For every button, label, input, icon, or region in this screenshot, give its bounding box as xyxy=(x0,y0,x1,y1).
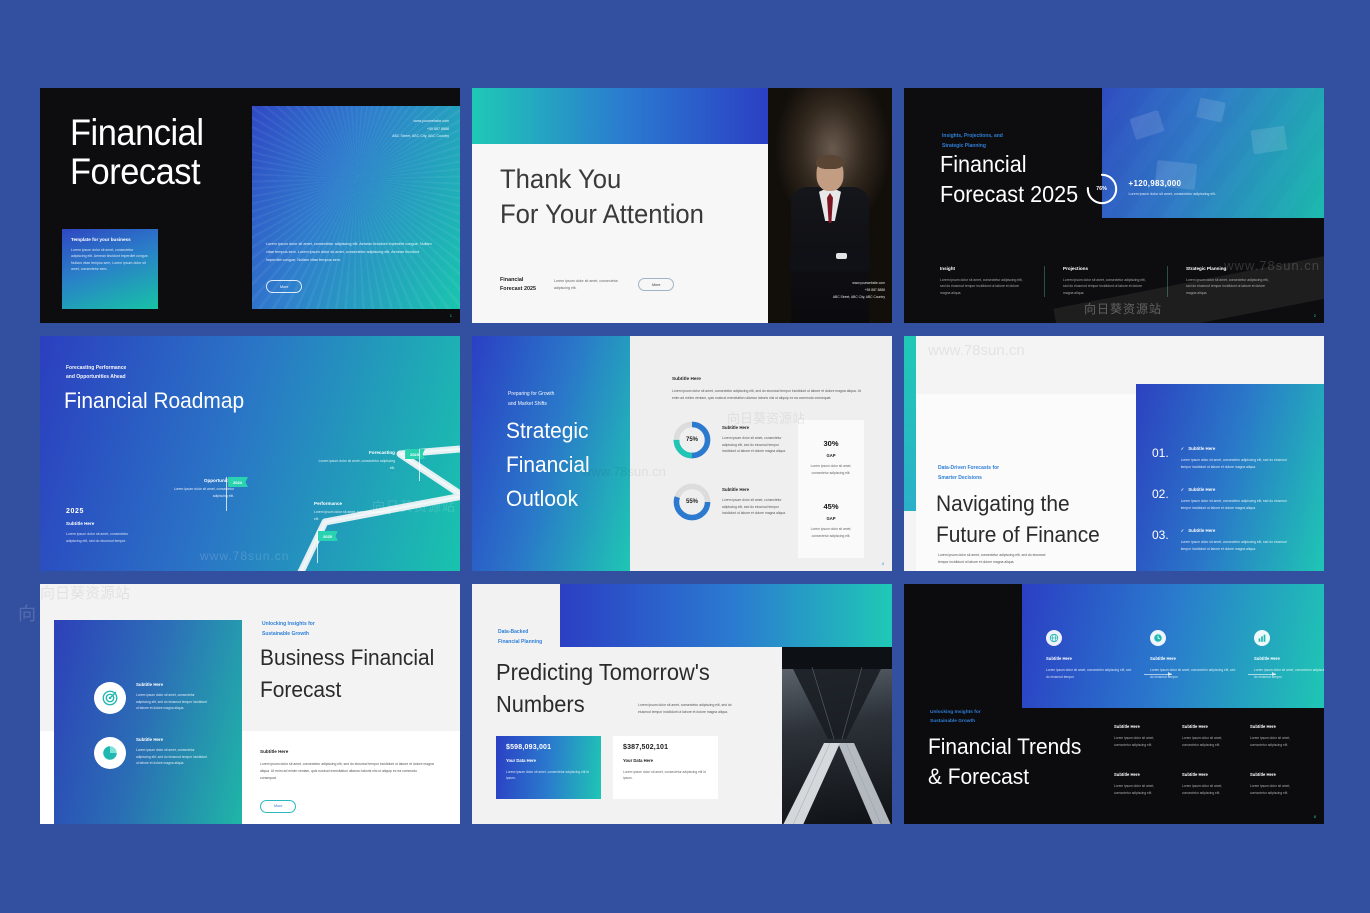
slide8-kicker-line2: Financial Planning xyxy=(498,638,542,648)
slide8-data-cards: $598,093,001 Your Data Here Lorem ipsum … xyxy=(496,736,718,799)
slide6-kicker-line2: Smarter Decisions xyxy=(938,474,999,484)
slide1-contact-block: www.yourwebsite.com +55 887 8888 ABC Str… xyxy=(392,118,449,141)
slide2-title: Thank You For Your Attention xyxy=(500,162,704,231)
slide1-page-number: 1 xyxy=(450,313,452,318)
marker-label: Opportunities xyxy=(162,478,234,483)
card-body: Lorem ipsum dolor sit amet, consectetur … xyxy=(506,769,591,782)
slide-thumbnail-strategic-outlook[interactable]: Preparing for Growth and Market Shifts S… xyxy=(472,336,892,571)
cell-heading: Subtitle Here xyxy=(1182,772,1234,777)
slide5-kicker-line2: and Market Shifts xyxy=(508,400,554,410)
marker-flag-pole xyxy=(317,531,318,563)
step-body: Lorem ipsum dolor sit amet, consectetur … xyxy=(1046,667,1134,680)
slide1-website: www.yourwebsite.com xyxy=(392,118,449,126)
slide5-kicker: Preparing for Growth and Market Shifts xyxy=(508,390,554,409)
stat-percent: 45% xyxy=(804,502,858,511)
slide4-kicker-line2: and Opportunities Ahead xyxy=(66,373,126,382)
slide4-kicker-line1: Forecasting Performance xyxy=(66,364,126,373)
slide5-donut-text-2: Subtitle Here Lorem ipsum dolor sit amet… xyxy=(722,487,788,517)
slide3-column-insight: Insight Lorem ipsum dolor sit amet, cons… xyxy=(940,266,1044,297)
donut-label: 75% xyxy=(672,420,712,460)
slide-thumbnail-business-forecast[interactable]: Subtitle Here Lorem ipsum dolor sit amet… xyxy=(40,584,460,824)
slides-grid: Financial Forecast Template for your bus… xyxy=(40,88,1328,824)
slide9-cell-1: Subtitle Here Lorem ipsum dolor sit amet… xyxy=(1114,724,1166,748)
slide5-donut-text-1: Subtitle Here Lorem ipsum dolor sit amet… xyxy=(722,425,788,455)
slide3-stat-text: +120,983,000 Lorem ipsum dolor sit amet,… xyxy=(1129,179,1217,198)
slide8-card-secondary: $387,502,101 Your Data Here Lorem ipsum … xyxy=(613,736,718,799)
slide-thumbnail-forecast-2025[interactable]: Insights, Projections, and Strategic Pla… xyxy=(904,88,1324,323)
item-number: 02. xyxy=(1152,487,1169,501)
bar-chart-icon-svg xyxy=(1257,633,1267,643)
item-text: ✓Subtitle Here Lorem ipsum dolor sit ame… xyxy=(1181,446,1289,470)
bar-chart-icon xyxy=(1254,630,1270,646)
marker-flag-pole xyxy=(226,477,227,511)
column-body: Lorem ipsum dolor sit amet, consectetur … xyxy=(940,277,1026,297)
cell-body: Lorem ipsum dolor sit amet, consectetur … xyxy=(1250,735,1302,748)
feature-heading: Subtitle Here xyxy=(136,682,208,687)
slide9-cell-3: Subtitle Here Lorem ipsum dolor sit amet… xyxy=(1250,724,1302,748)
slide-thumbnail-financial-trends[interactable]: Subtitle Here Lorem ipsum dolor sit amet… xyxy=(904,584,1324,824)
slide5-kicker-line1: Preparing for Growth xyxy=(508,390,554,400)
marker-year-flag: 2025 xyxy=(318,531,338,541)
slide8-title-line1: Predicting Tomorrow's xyxy=(496,656,710,688)
marker-body: Lorem ipsum dolor sit amet, consectetur … xyxy=(314,509,392,522)
slide7-title: Business Financial Forecast xyxy=(260,642,434,706)
item-heading: Subtitle Here xyxy=(1188,528,1215,533)
slide4-body: Lorem ipsum dolor sit amet, consectetur … xyxy=(66,531,134,545)
marker-label: Forecasting xyxy=(315,450,395,455)
item-heading-row: ✓Subtitle Here xyxy=(1181,528,1289,533)
target-icon xyxy=(94,682,126,714)
slide3-stat-value: +120,983,000 xyxy=(1129,179,1217,188)
clock-icon xyxy=(1150,630,1166,646)
cell-body: Lorem ipsum dolor sit amet, consectetur … xyxy=(1114,735,1166,748)
cell-heading: Subtitle Here xyxy=(1182,724,1234,729)
cell-heading: Subtitle Here xyxy=(1250,724,1302,729)
slide9-cell-2: Subtitle Here Lorem ipsum dolor sit amet… xyxy=(1182,724,1234,748)
feature-body: Lorem ipsum dolor sit amet, consectetur … xyxy=(136,747,208,767)
globe-icon xyxy=(1046,630,1062,646)
slide3-title-line2: Forecast 2025 xyxy=(940,180,1078,210)
card-label: Your Data Here xyxy=(623,758,708,763)
stat-body: Lorem ipsum dolor sit amet, consectetur … xyxy=(804,526,858,539)
slide9-step-1: Subtitle Here Lorem ipsum dolor sit amet… xyxy=(1046,630,1134,680)
item-text: ✓Subtitle Here Lorem ipsum dolor sit ame… xyxy=(1181,528,1289,552)
slide3-page-number: 2 xyxy=(1314,313,1316,318)
stat-body: Lorem ipsum dolor sit amet, consectetur … xyxy=(804,463,858,476)
slide6-title: Navigating the Future of Finance xyxy=(936,488,1100,550)
roadmap-marker-performance: Performance Lorem ipsum dolor sit amet, … xyxy=(314,501,392,522)
slide9-steps-panel: Subtitle Here Lorem ipsum dolor sit amet… xyxy=(1022,584,1324,708)
cell-body: Lorem ipsum dolor sit amet, consectetur … xyxy=(1182,735,1234,748)
slide9-cell-6: Subtitle Here Lorem ipsum dolor sit amet… xyxy=(1250,772,1302,796)
slide7-kicker: Unlocking Insights for Sustainable Growt… xyxy=(262,620,315,639)
donut-chart-55: 55% xyxy=(672,482,712,522)
column-heading: Insight xyxy=(940,266,1026,271)
slide9-kicker-line2: Sustainable Growth xyxy=(930,717,981,726)
slide5-top-block: Subtitle Here Lorem ipsum dolor sit amet… xyxy=(672,376,864,402)
check-icon: ✓ xyxy=(1181,446,1185,451)
item-body: Lorem ipsum dolor sit amet, consectetur … xyxy=(1181,498,1289,511)
slide5-title-line2: Financial xyxy=(506,448,590,482)
slide7-sub-body: Lorem ipsum dolor sit amet, consectetur … xyxy=(260,761,434,782)
slide7-feature-2: Subtitle Here Lorem ipsum dolor sit amet… xyxy=(94,737,208,769)
cell-heading: Subtitle Here xyxy=(1114,772,1166,777)
item-body: Lorem ipsum dolor sit amet, consectetur … xyxy=(1181,539,1289,552)
slide5-top-body: Lorem ipsum dolor sit amet, consectetur … xyxy=(672,388,864,402)
slide2-title-line2: For Your Attention xyxy=(500,197,704,232)
slide1-title-line1: Financial xyxy=(70,114,204,153)
cell-heading: Subtitle Here xyxy=(1250,772,1302,777)
item-body: Lorem ipsum dolor sit amet, consectetur … xyxy=(1181,457,1289,470)
slide1-address: ABC Street, ABC City, ABC Country xyxy=(392,133,449,141)
deco-shape xyxy=(1129,110,1164,140)
cell-body: Lorem ipsum dolor sit amet, consectetur … xyxy=(1114,783,1166,796)
slide5-stat-card-1: 30% GAP Lorem ipsum dolor sit amet, cons… xyxy=(798,426,864,489)
slide5-title: Strategic Financial Outlook xyxy=(506,414,590,516)
slide2-brand-line1: Financial xyxy=(500,277,523,283)
slide1-card-body: Lorem ipsum dolor sit amet, consectetur … xyxy=(71,247,149,273)
slide6-title-line2: Future of Finance xyxy=(936,519,1100,550)
item-number: 03. xyxy=(1152,528,1169,542)
slide5-page-number: 4 xyxy=(882,561,884,566)
donut-body: Lorem ipsum dolor sit amet, consectetur … xyxy=(722,497,788,517)
pie-chart-icon-svg xyxy=(101,744,119,762)
slide4-kicker: Forecasting Performance and Opportunitie… xyxy=(66,364,126,382)
slide5-title-line3: Outlook xyxy=(506,482,590,516)
item-heading: Subtitle Here xyxy=(1188,487,1215,492)
marker-body: Lorem ipsum dolor sit amet, consectetur … xyxy=(162,486,234,499)
donut-chart-76: 76% xyxy=(1085,172,1119,206)
marker-flag-pole xyxy=(419,449,420,481)
slide2-title-line1: Thank You xyxy=(500,162,704,197)
card-body: Lorem ipsum dolor sit amet, consectetur … xyxy=(623,769,708,782)
slide4-year: 2025 xyxy=(66,508,134,515)
marker-year-flag: 2023 xyxy=(405,449,425,459)
slide2-phone: +55 887 8888 xyxy=(833,287,885,294)
slide9-step-2: Subtitle Here Lorem ipsum dolor sit amet… xyxy=(1150,630,1238,680)
slide7-sub-block: Subtitle Here Lorem ipsum dolor sit amet… xyxy=(260,749,434,813)
column-heading: Projections xyxy=(1063,266,1149,271)
slide3-kicker-line1: Insights, Projections, and xyxy=(942,132,1003,142)
stat-percent: 30% xyxy=(804,439,858,448)
feature-text: Subtitle Here Lorem ipsum dolor sit amet… xyxy=(136,737,208,767)
step-heading: Subtitle Here xyxy=(1254,656,1324,661)
slide6-body: Lorem ipsum dolor sit amet, consectetur … xyxy=(938,552,1046,567)
roadmap-marker-forecasting: Forecasting Lorem ipsum dolor sit amet, … xyxy=(315,450,395,471)
slide9-cell-4: Subtitle Here Lorem ipsum dolor sit amet… xyxy=(1114,772,1166,796)
item-heading: Subtitle Here xyxy=(1188,446,1215,451)
slide2-portrait-photo: www.yourwebsite.com +55 887 8888 ABC Str… xyxy=(768,88,892,323)
slide3-title-line1: Financial xyxy=(940,150,1078,180)
donut-heading: Subtitle Here xyxy=(722,425,788,430)
slide8-gradient-bar xyxy=(560,584,892,647)
slide7-kicker-line2: Sustainable Growth xyxy=(262,630,315,640)
slide9-cell-5: Subtitle Here Lorem ipsum dolor sit amet… xyxy=(1182,772,1234,796)
slide4-title: Financial Roadmap xyxy=(64,388,244,414)
donut-label: 55% xyxy=(672,482,712,522)
slide-thumbnail-navigating-future[interactable]: Data-Driven Forecasts for Smarter Decisi… xyxy=(904,336,1324,571)
cell-body: Lorem ipsum dolor sit amet, consectetur … xyxy=(1250,783,1302,796)
slide5-stat-cards: 30% GAP Lorem ipsum dolor sit amet, cons… xyxy=(798,420,864,558)
slide8-kicker: Data-Backed Financial Planning xyxy=(498,628,542,647)
building-graphic xyxy=(782,647,892,824)
slide6-kicker-line1: Data-Driven Forecasts for xyxy=(938,464,999,474)
slide8-card-primary: $598,093,001 Your Data Here Lorem ipsum … xyxy=(496,736,601,799)
step-body: Lorem ipsum dolor sit amet, consectetur … xyxy=(1150,667,1238,680)
step-body: Lorem ipsum dolor sit amet, consectetur … xyxy=(1254,667,1324,680)
slide1-body-text: Lorem ipsum dolor sit amet, consectetur … xyxy=(266,241,434,265)
slide-thumbnail-predicting-numbers[interactable]: Data-Backed Financial Planning Predictin… xyxy=(472,584,892,824)
slide2-footer: Financial Forecast 2025 Lorem ipsum dolo… xyxy=(500,276,674,293)
card-amount: $598,093,001 xyxy=(506,744,591,751)
feature-text: Subtitle Here Lorem ipsum dolor sit amet… xyxy=(136,682,208,712)
slide3-kicker: Insights, Projections, and Strategic Pla… xyxy=(942,132,1003,151)
donut-chart-75: 75% xyxy=(672,420,712,460)
feature-body: Lorem ipsum dolor sit amet, consectetur … xyxy=(136,692,208,712)
slide7-title-line1: Business Financial xyxy=(260,642,434,674)
stat-label: GAP xyxy=(804,453,858,458)
slide5-stat-card-2: 45% GAP Lorem ipsum dolor sit amet, cons… xyxy=(798,489,864,552)
slide-thumbnail-cover[interactable]: Financial Forecast Template for your bus… xyxy=(40,88,460,323)
slide6-list-item-01: 01. ✓Subtitle Here Lorem ipsum dolor sit… xyxy=(1152,446,1289,470)
slide9-title-line2: & Forecast xyxy=(928,762,1081,792)
slide-thumbnail-roadmap[interactable]: Forecasting Performance and Opportunitie… xyxy=(40,336,460,571)
shirt-cuff xyxy=(836,253,847,259)
item-heading-row: ✓Subtitle Here xyxy=(1181,487,1289,492)
donut-body: Lorem ipsum dolor sit amet, consectetur … xyxy=(722,435,788,455)
slide9-title: Financial Trends & Forecast xyxy=(928,732,1081,791)
card-amount: $387,502,101 xyxy=(623,744,708,751)
slide5-top-heading: Subtitle Here xyxy=(672,376,864,381)
donut-label: 76% xyxy=(1085,172,1119,206)
crossed-arms xyxy=(790,251,870,271)
roadmap-marker-opportunities: Opportunities Lorem ipsum dolor sit amet… xyxy=(162,478,234,499)
slide1-phone: +55 887 8888 xyxy=(392,126,449,134)
deco-shape xyxy=(1250,126,1287,154)
slide6-list-item-02: 02. ✓Subtitle Here Lorem ipsum dolor sit… xyxy=(1152,487,1289,511)
marker-year-flag: 2024 xyxy=(228,477,248,487)
pie-chart-icon xyxy=(94,737,126,769)
slide-thumbnail-thank-you[interactable]: Thank You For Your Attention Financial F… xyxy=(472,88,892,323)
slide9-title-line1: Financial Trends xyxy=(928,732,1081,762)
card-label: Your Data Here xyxy=(506,758,591,763)
slide2-address: ABC Street, ABC City, ABC Country xyxy=(833,294,885,301)
slide8-architecture-photo xyxy=(782,647,892,824)
slide1-template-card: Template for your business Lorem ipsum d… xyxy=(62,229,158,309)
slide9-step-3: Subtitle Here Lorem ipsum dolor sit amet… xyxy=(1254,630,1324,680)
item-text: ✓Subtitle Here Lorem ipsum dolor sit ame… xyxy=(1181,487,1289,511)
slide1-more-button[interactable]: More xyxy=(266,280,302,293)
marker-label: Performance xyxy=(314,501,392,506)
slide9-kicker: Unlocking Insights for Sustainable Growt… xyxy=(930,708,981,726)
slide6-list-item-03: 03. ✓Subtitle Here Lorem ipsum dolor sit… xyxy=(1152,528,1289,552)
step-heading: Subtitle Here xyxy=(1046,656,1134,661)
target-icon-svg xyxy=(101,689,119,707)
step-heading: Subtitle Here xyxy=(1150,656,1238,661)
cell-heading: Subtitle Here xyxy=(1114,724,1166,729)
slide7-more-button[interactable]: More xyxy=(260,800,296,813)
deco-shape xyxy=(1196,98,1226,123)
slide1-hero-panel: www.yourwebsite.com +55 887 8888 ABC Str… xyxy=(252,106,460,309)
slide9-page-number: 8 xyxy=(1314,814,1316,819)
slide1-title-line2: Forecast xyxy=(70,153,204,192)
stat-label: GAP xyxy=(804,516,858,521)
donut-heading: Subtitle Here xyxy=(722,487,788,492)
slide4-footer: 2025 Subtitle Here Lorem ipsum dolor sit… xyxy=(66,508,134,545)
slide2-brand-line2: Forecast 2025 xyxy=(500,286,536,292)
slide8-lead: Lorem ipsum dolor sit amet, consectetur … xyxy=(638,702,738,716)
check-icon: ✓ xyxy=(1181,528,1185,533)
item-heading-row: ✓Subtitle Here xyxy=(1181,446,1289,451)
slide7-title-line2: Forecast xyxy=(260,674,434,706)
slide6-teal-accent-bar xyxy=(904,336,916,511)
slide2-gradient-bar xyxy=(472,88,768,144)
cell-body: Lorem ipsum dolor sit amet, consectetur … xyxy=(1182,783,1234,796)
hair xyxy=(816,155,844,169)
slide7-feature-1: Subtitle Here Lorem ipsum dolor sit amet… xyxy=(94,682,208,714)
check-icon: ✓ xyxy=(1181,487,1185,492)
slide9-kicker-line1: Unlocking Insights for xyxy=(930,708,981,717)
feature-heading: Subtitle Here xyxy=(136,737,208,742)
slide7-kicker-line1: Unlocking Insights for xyxy=(262,620,315,630)
slide7-feature-image: Subtitle Here Lorem ipsum dolor sit amet… xyxy=(54,620,242,824)
slide-gallery-board: 向日葵资源站 Financial Forecast Template for y… xyxy=(0,0,1370,913)
slide7-sub-heading: Subtitle Here xyxy=(260,749,434,754)
marker-body: Lorem ipsum dolor sit amet, consectetur … xyxy=(315,458,395,471)
slide3-stat-group: 76% +120,983,000 Lorem ipsum dolor sit a… xyxy=(1085,172,1217,206)
slide6-kicker: Data-Driven Forecasts for Smarter Decisi… xyxy=(938,464,999,483)
roadmap-path-graphic xyxy=(205,424,460,571)
slide3-title: Financial Forecast 2025 xyxy=(940,150,1078,210)
globe-icon-svg xyxy=(1049,633,1059,643)
slide1-card-title: Template for your business xyxy=(71,237,149,242)
slide6-title-line1: Navigating the xyxy=(936,488,1100,519)
slide1-title: Financial Forecast xyxy=(70,114,204,192)
slide5-title-line1: Strategic xyxy=(506,414,590,448)
slide4-subtitle: Subtitle Here xyxy=(66,521,134,526)
slide2-more-button[interactable]: More xyxy=(638,278,674,291)
item-number: 01. xyxy=(1152,446,1169,460)
slide2-footer-note: Lorem ipsum dolor sit amet, consectetur … xyxy=(554,278,620,292)
slide2-brand: Financial Forecast 2025 xyxy=(500,276,536,293)
slide8-kicker-line1: Data-Backed xyxy=(498,628,542,638)
clock-icon-svg xyxy=(1153,633,1163,643)
slide9-cells-grid: Subtitle Here Lorem ipsum dolor sit amet… xyxy=(1114,724,1302,797)
slide2-website: www.yourwebsite.com xyxy=(833,280,885,287)
slide2-contact-block: www.yourwebsite.com +55 887 8888 ABC Str… xyxy=(833,280,885,301)
slide3-stat-note: Lorem ipsum dolor sit amet, consectetur … xyxy=(1129,191,1217,198)
